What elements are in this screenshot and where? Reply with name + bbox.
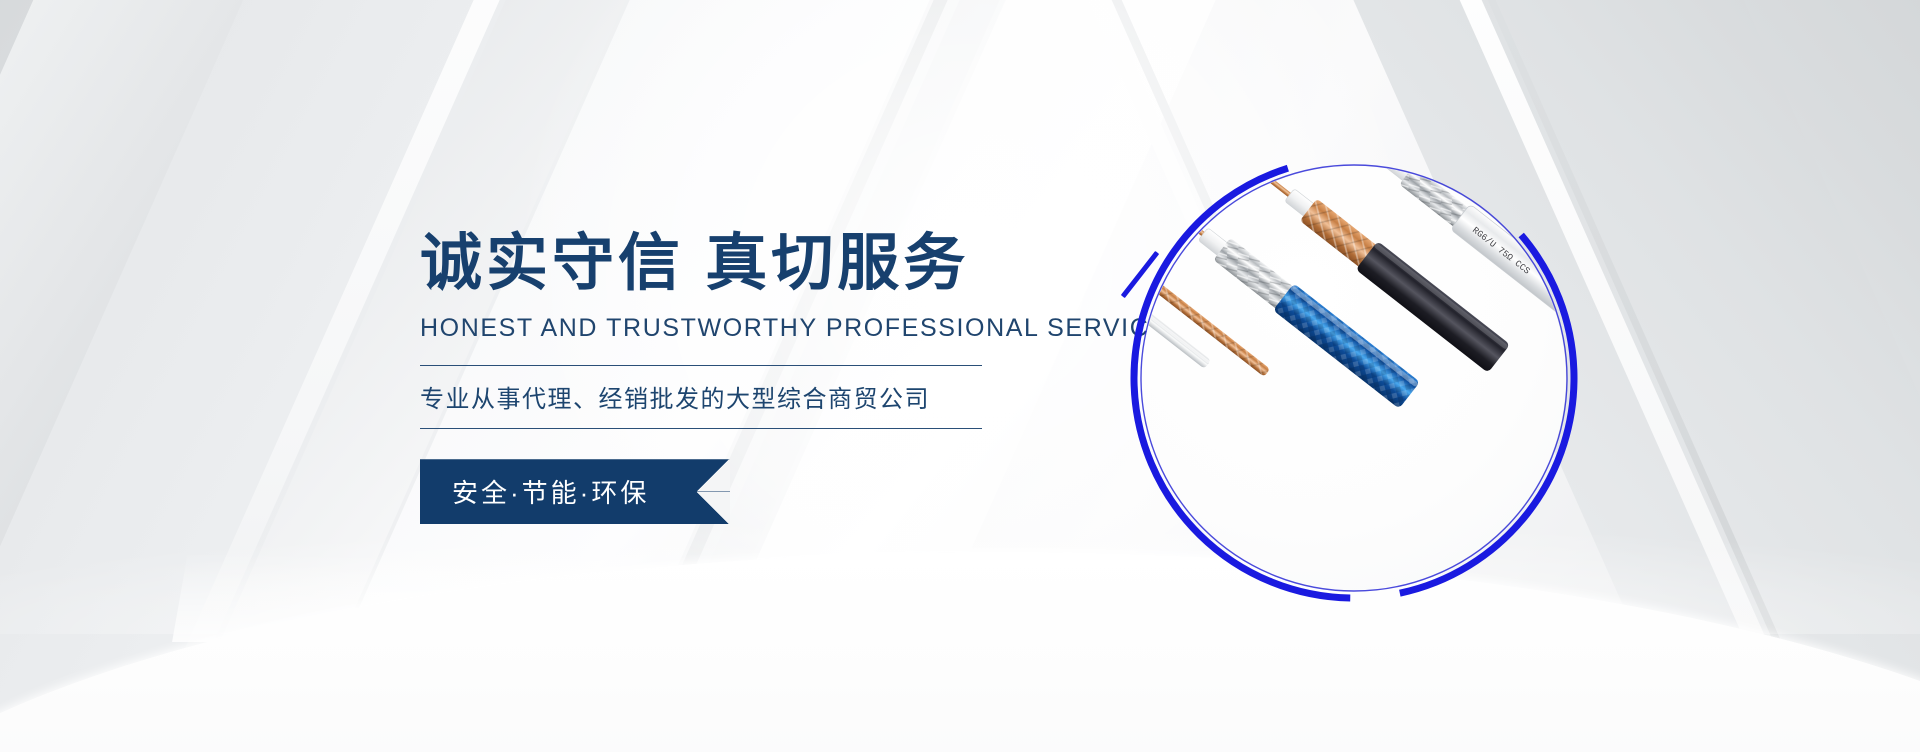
hero-text-block: 诚实守信 真切服务 HONEST AND TRUSTWORTHY PROFESS… bbox=[420, 230, 1140, 524]
description-rule-box: 专业从事代理、经销批发的大型综合商贸公司 bbox=[420, 365, 982, 429]
product-medallion: RG6/U 75Ω CCS bbox=[1128, 152, 1580, 604]
ribbon-wrapper: 安全·节能·环保 bbox=[420, 459, 1140, 524]
page-description: 专业从事代理、经销批发的大型综合商贸公司 bbox=[420, 379, 982, 414]
hero-banner: 诚实守信 真切服务 HONEST AND TRUSTWORTHY PROFESS… bbox=[0, 0, 1920, 752]
feature-ribbon-label: 安全·节能·环保 bbox=[452, 478, 649, 508]
circle-ring-icon bbox=[1128, 152, 1580, 604]
page-subtitle: HONEST AND TRUSTWORTHY PROFESSIONAL SERV… bbox=[420, 314, 1140, 343]
feature-ribbon-badge[interactable]: 安全·节能·环保 bbox=[420, 459, 730, 524]
page-title: 诚实守信 真切服务 bbox=[420, 230, 1140, 298]
